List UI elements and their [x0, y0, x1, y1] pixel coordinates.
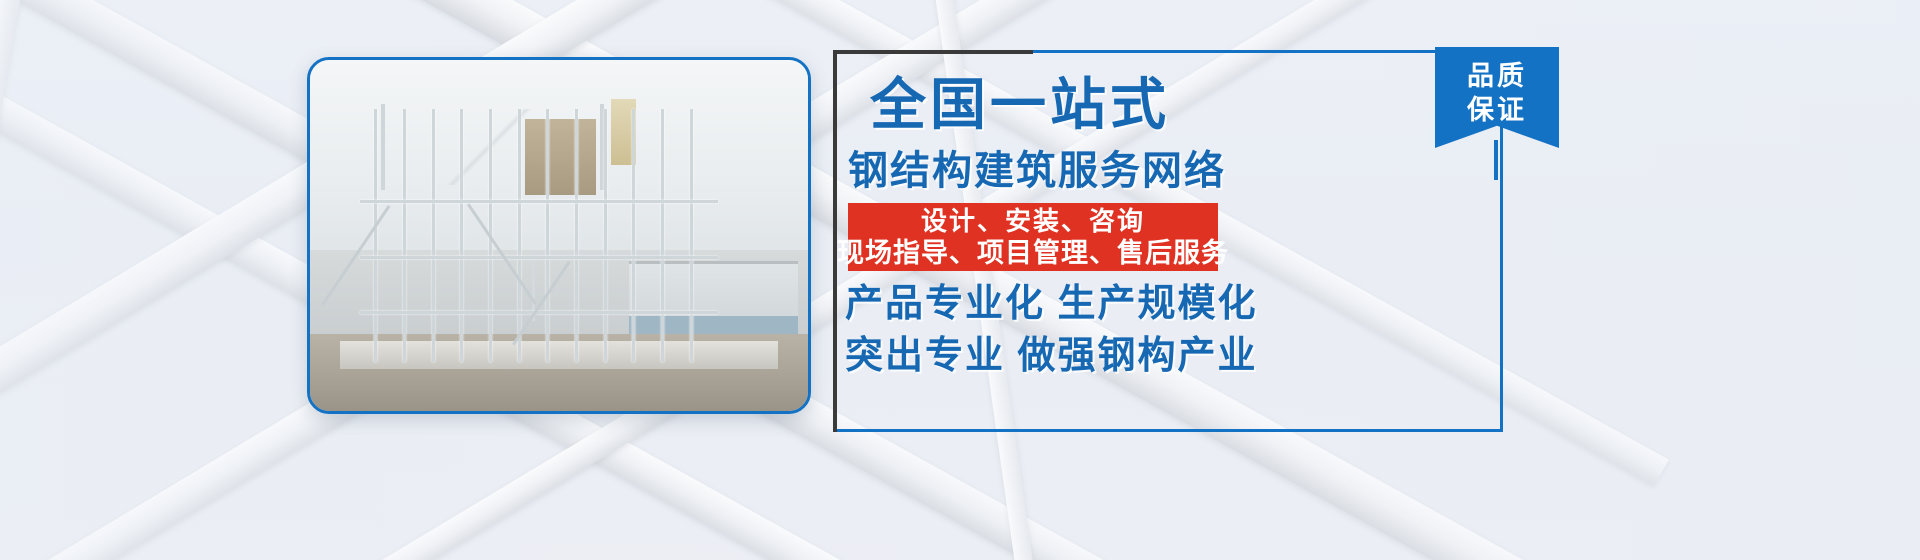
- frame-top-dark-edge: [833, 50, 1033, 54]
- photo-floor-joist: [360, 311, 719, 314]
- slogan-line-1: 产品专业化 生产规模化: [845, 278, 1275, 330]
- construction-photo-card: [307, 57, 811, 414]
- photo-stud: [403, 109, 406, 362]
- photo-stud: [518, 109, 521, 362]
- construction-photo: [310, 60, 808, 411]
- photo-stud: [661, 109, 664, 362]
- photo-stud: [432, 109, 435, 362]
- photo-floor-joist: [360, 200, 719, 203]
- promo-banner: 全国一站式 钢结构建筑服务网络 设计、安装、咨询 现场指导、项目管理、售后服务 …: [0, 0, 1920, 560]
- photo-stud: [460, 109, 463, 362]
- photo-steel-frame: [360, 109, 719, 362]
- photo-stud: [374, 109, 377, 362]
- badge-stem: [1494, 140, 1498, 180]
- badge-line-1: 品质: [1467, 59, 1527, 93]
- photo-stud: [604, 109, 607, 362]
- photo-stud: [575, 109, 578, 362]
- photo-floor-joist: [360, 256, 719, 259]
- headline: 全国一站式: [870, 74, 1290, 136]
- photo-stud: [546, 109, 549, 362]
- service-line-1: 设计、安装、咨询: [921, 205, 1145, 237]
- badge-line-2: 保证: [1467, 93, 1527, 127]
- photo-stud: [632, 109, 635, 362]
- service-highlight-band: 设计、安装、咨询 现场指导、项目管理、售后服务: [848, 203, 1218, 271]
- subheadline: 钢结构建筑服务网络: [848, 148, 1368, 194]
- photo-stud: [690, 109, 693, 362]
- photo-roof-outline: [381, 104, 604, 190]
- service-line-2: 现场指导、项目管理、售后服务: [837, 237, 1229, 269]
- photo-brace: [467, 203, 537, 304]
- slogan-line-2: 突出专业 做强钢构产业: [845, 330, 1275, 382]
